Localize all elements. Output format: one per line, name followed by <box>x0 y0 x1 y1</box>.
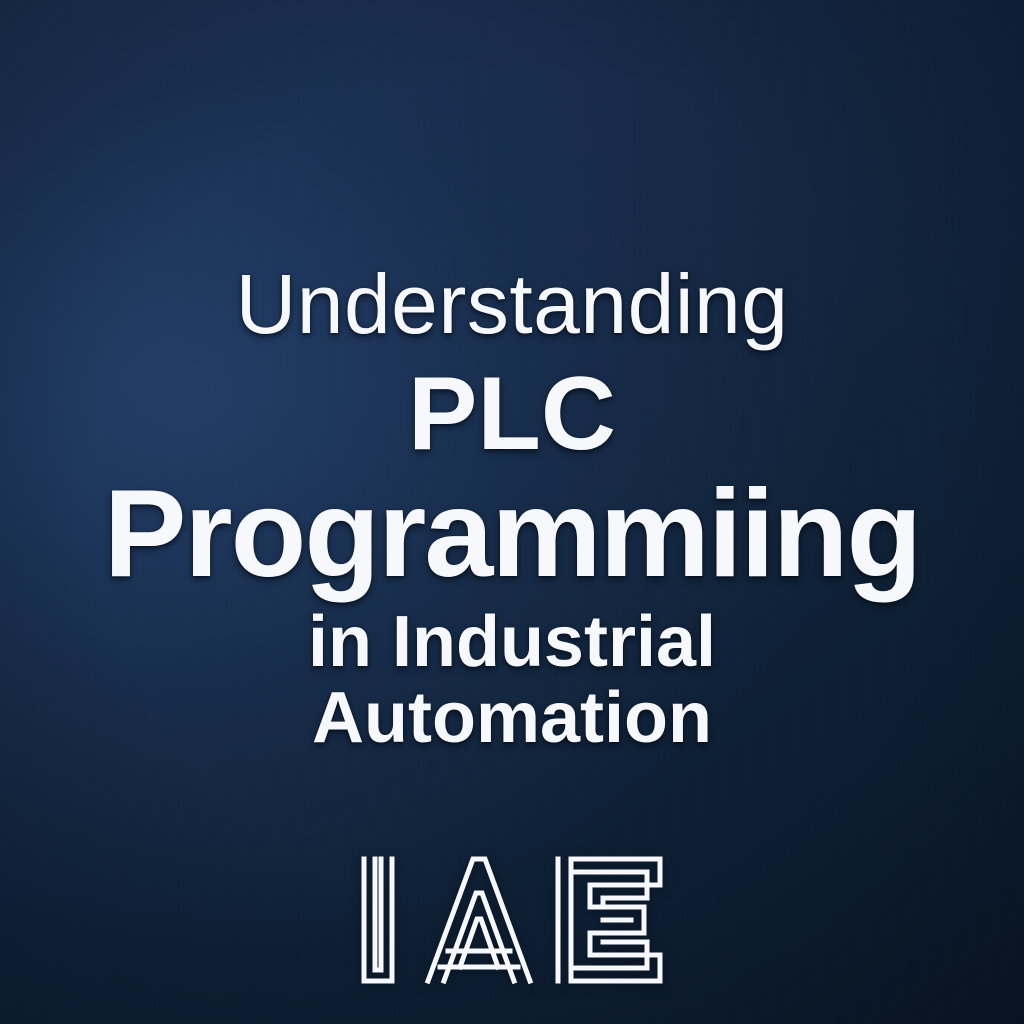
iae-logo <box>352 855 672 985</box>
title-block: Understanding PLC Programmiing in Indust… <box>0 262 1024 754</box>
logo-letter-i <box>364 859 392 981</box>
title-line-understanding: Understanding <box>0 262 1024 346</box>
title-line-plc: PLC <box>0 362 1024 466</box>
title-line-programming: Programmiing <box>0 472 1024 596</box>
subtitle-line-in-industrial: in Industrial <box>0 606 1024 678</box>
iae-logo-svg <box>352 855 672 985</box>
logo-letter-a <box>428 859 530 981</box>
poster-canvas: Understanding PLC Programmiing in Indust… <box>0 0 1024 1024</box>
logo-letter-e <box>558 859 660 981</box>
subtitle-line-automation: Automation <box>0 682 1024 754</box>
